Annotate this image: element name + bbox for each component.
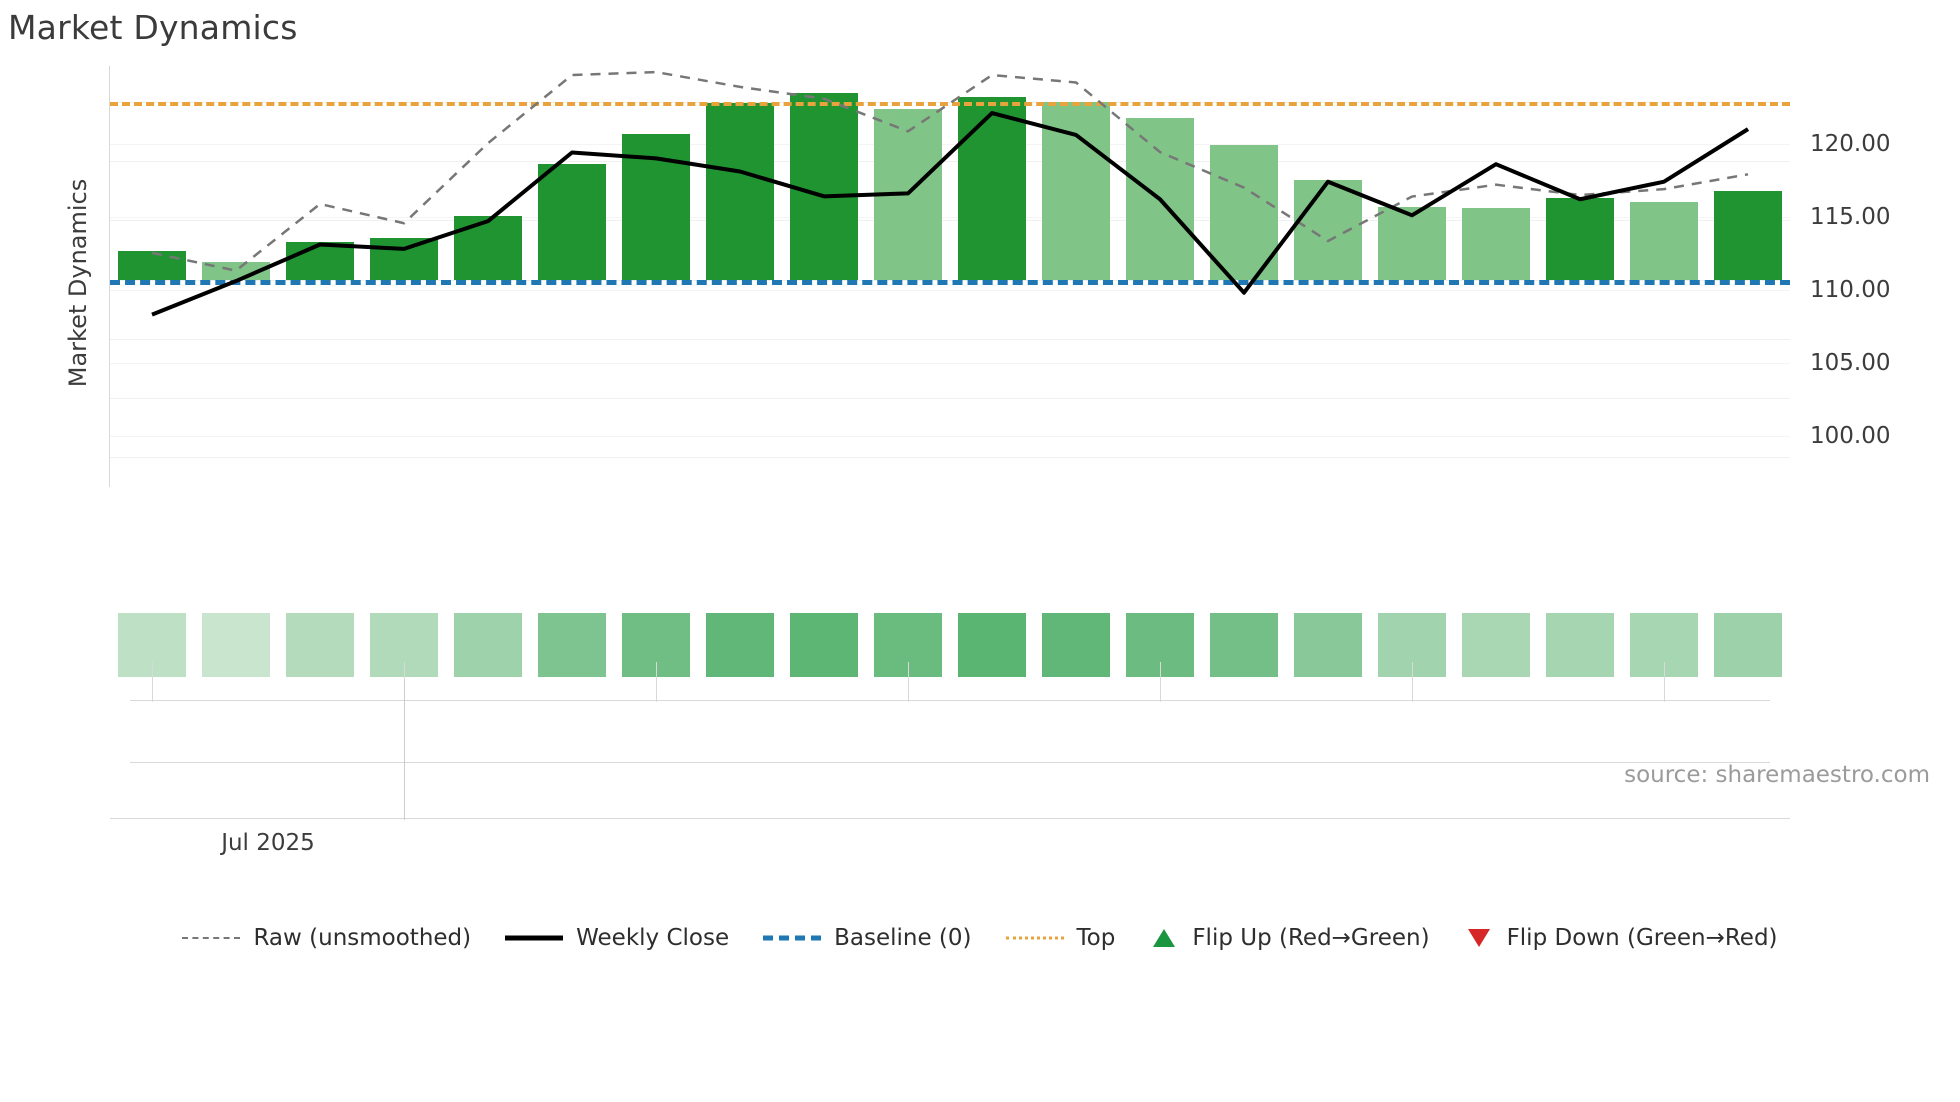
axis-tick <box>152 662 153 702</box>
legend-label: Baseline (0) <box>834 925 971 951</box>
chart-plot-area: Market Dynamics Weekly Close Price 0.60.… <box>110 78 1790 487</box>
line-swatch-icon <box>505 928 563 948</box>
legend-label: Flip Up (Red→Green) <box>1192 925 1429 951</box>
heat-cell <box>958 613 1025 677</box>
heat-cell <box>1714 613 1781 677</box>
x-axis-tick-label: Jul 2025 <box>221 830 315 856</box>
axis-tick <box>1160 662 1161 702</box>
triangle-down-icon <box>1464 928 1494 948</box>
legend-item[interactable]: Flip Down (Green→Red) <box>1464 925 1778 951</box>
axis-tick <box>1412 662 1413 702</box>
line-swatch-icon <box>182 928 240 948</box>
legend-label: Weekly Close <box>576 925 729 951</box>
axis-tick-jul <box>404 680 405 820</box>
legend-item[interactable]: Flip Up (Red→Green) <box>1149 925 1429 951</box>
line-swatch-icon <box>1006 928 1064 948</box>
source-note: source: sharemaestro.com <box>1624 762 1930 788</box>
line-swatch-icon <box>763 928 821 948</box>
axis-tick <box>1664 662 1665 702</box>
heat-cell <box>202 613 269 677</box>
legend-label: Flip Down (Green→Red) <box>1507 925 1778 951</box>
lower-axis-rule <box>130 762 1770 763</box>
heat-cell <box>1210 613 1277 677</box>
lower-axis-decoration <box>110 700 1790 820</box>
heat-cell <box>790 613 857 677</box>
line-series-overlay <box>110 78 1790 487</box>
axis-tick <box>656 662 657 702</box>
heat-cell <box>538 613 605 677</box>
heat-cell <box>706 613 773 677</box>
legend-item[interactable]: Top <box>1006 925 1116 951</box>
legend-item[interactable]: Raw (unsmoothed) <box>182 925 471 951</box>
right-axis-tick-label: 115.00 <box>1810 204 1960 230</box>
right-axis-tick-label: 120.00 <box>1810 131 1960 157</box>
legend-item[interactable]: Weekly Close <box>505 925 729 951</box>
chart-legend: Raw (unsmoothed)Weekly CloseBaseline (0)… <box>0 925 1960 951</box>
axis-tick <box>908 662 909 702</box>
right-axis-tick-label: 105.00 <box>1810 350 1960 376</box>
left-axis-title: Market Dynamics <box>64 178 92 386</box>
heat-cell <box>1462 613 1529 677</box>
heat-cell <box>1294 613 1361 677</box>
lower-axis-rule <box>130 700 1770 701</box>
weekly-close-line <box>152 113 1748 315</box>
heat-cell <box>1546 613 1613 677</box>
heat-cell <box>1042 613 1109 677</box>
page-title: Market Dynamics <box>8 8 298 47</box>
lower-axis-rule <box>110 818 1790 819</box>
right-axis-tick-label: 110.00 <box>1810 277 1960 303</box>
legend-label: Top <box>1077 925 1116 951</box>
heat-cell <box>454 613 521 677</box>
heat-cell <box>286 613 353 677</box>
legend-item[interactable]: Baseline (0) <box>763 925 971 951</box>
legend-label: Raw (unsmoothed) <box>253 925 471 951</box>
triangle-up-icon <box>1149 928 1179 948</box>
right-axis-tick-label: 100.00 <box>1810 423 1960 449</box>
regime-heat-strip <box>110 613 1790 677</box>
